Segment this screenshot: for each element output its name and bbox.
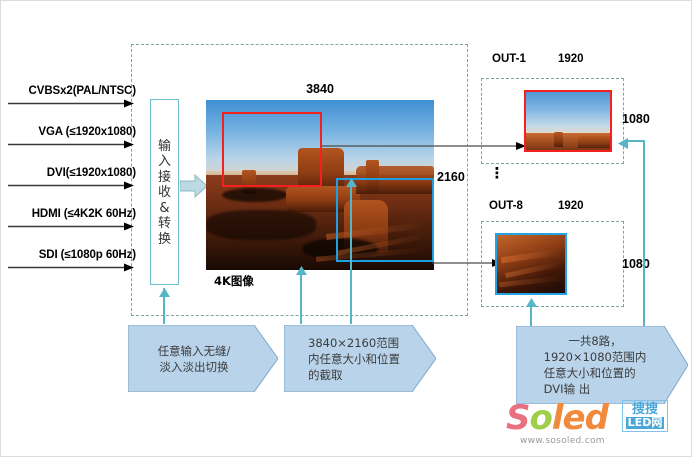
callout-input-text: 任意输入无缝/ 淡入淡出切换: [158, 343, 231, 375]
crop-callout-stem: [350, 180, 352, 324]
output-8-width: 1920: [558, 200, 584, 212]
output-callout-arrowhead-icon: [618, 136, 628, 147]
output-1-thumbnail[interactable]: [524, 90, 612, 152]
watermark-brand-o: o: [530, 398, 552, 438]
crop-callout-arrowhead-icon: [345, 174, 358, 183]
receiver-char-6: 换: [158, 232, 171, 248]
input-arrow-dvi: [8, 180, 134, 191]
left-butte-shadow: [222, 188, 288, 202]
input-label-vga: VGA (≤1920x1080): [4, 126, 136, 138]
watermark-badge: 搜搜 LED网: [622, 400, 668, 432]
watermark-url: www.sosoled.com: [520, 436, 605, 446]
output-callout-riser: [643, 140, 645, 330]
input-label-cvbs: CVBSx2(PAL/NTSC): [4, 85, 136, 97]
callout-output-text: 一共8路， 1920×1080范围内 任意大小和位置的 DVI输 出: [540, 333, 647, 397]
watermark-logo: Soled www.sosoled.com 搜搜 LED网: [506, 398, 686, 450]
thumb1-ridge: [578, 136, 612, 148]
source-4k-image: [206, 100, 434, 270]
source-height-label: 2160: [437, 170, 465, 184]
crop-region-red[interactable]: [222, 112, 322, 187]
watermark-brand: Soled: [506, 398, 608, 438]
callout-crop-range: 3840×2160范围 内任意大小和位置 的截取: [284, 325, 436, 392]
receiver-char-3: 收: [158, 185, 171, 201]
callout-input-line-0: 任意输入无缝/: [158, 343, 231, 359]
input-label-sdi: SDI (≤1080p 60Hz): [4, 249, 136, 261]
receiver-char-5: 转: [158, 216, 171, 232]
output-8-thumbnail[interactable]: [495, 233, 567, 295]
callout-output-line-2: 任意大小和位置的: [544, 365, 647, 381]
output-8-arrowhead-icon: [525, 294, 538, 303]
crop-callout-arrowhead-2-icon: [295, 262, 308, 271]
watermark-badge-bottom: LED网: [626, 417, 664, 429]
input-receive-convert-box: 输 入 接 收 & 转 换: [150, 99, 179, 285]
callout-input-line-1: 淡入淡出切换: [158, 359, 231, 375]
callout-crop-text: 3840×2160范围 内任意大小和位置 的截取: [304, 335, 400, 383]
callout-output-line-1: 1920×1080范围内: [544, 349, 647, 365]
thumb1-sky: [526, 92, 610, 134]
callout-dvi-output: 一共8路， 1920×1080范围内 任意大小和位置的 DVI输 出: [516, 326, 688, 404]
input-label-dvi: DVI(≤1920x1080): [4, 167, 136, 179]
source-width-value: 3840: [306, 82, 334, 96]
callout-crop-line-1: 内任意大小和位置: [308, 351, 400, 367]
watermark-badge-top: 搜搜: [632, 402, 658, 417]
watermark-brand-led: led: [552, 398, 608, 438]
input-arrow-hdmi: [8, 221, 134, 232]
input-label-hdmi: HDMI (≤4K2K 60Hz): [4, 208, 136, 220]
callout-crop-line-0: 3840×2160范围: [308, 335, 400, 351]
input-arrow-sdi: [8, 262, 134, 273]
receiver-char-1: 入: [158, 154, 171, 170]
output-1-height: 1080: [622, 112, 650, 126]
source-caption: 4K图像: [214, 273, 254, 289]
output-callout-top-run: [626, 140, 645, 142]
source-width-label: 3840: [206, 80, 434, 98]
output-1-name: OUT-1: [492, 53, 526, 65]
input-arrow-cvbs: [8, 98, 134, 109]
receiver-char-4: &: [159, 201, 169, 217]
callout-crop-line-2: 的截取: [308, 367, 400, 383]
watermark-brand-s: S: [506, 398, 530, 438]
receiver-char-2: 接: [158, 170, 171, 186]
receiver-char-0: 输: [158, 139, 171, 155]
diagram-canvas: CVBSx2(PAL/NTSC) VGA (≤1920x1080) DVI(≤1…: [0, 0, 692, 457]
outputs-ellipsis: ⋮: [489, 172, 505, 177]
callout-input-switching: 任意输入无缝/ 淡入淡出切换: [128, 325, 278, 392]
input-callout-arrowhead-icon: [158, 284, 171, 293]
output-1-width: 1920: [558, 53, 584, 65]
output-8-name: OUT-8: [489, 200, 523, 212]
ground-shadow-left: [206, 210, 316, 240]
receiver-to-image-arrow-icon: [180, 172, 208, 200]
thumb1-butte: [554, 132, 563, 147]
callout-output-line-3: DVI输 出: [544, 381, 647, 397]
input-arrow-vga: [8, 139, 134, 150]
output-8-height: 1080: [622, 257, 650, 271]
crop-callout-stem-2: [300, 268, 302, 324]
callout-output-line-0: 一共8路，: [544, 333, 647, 349]
